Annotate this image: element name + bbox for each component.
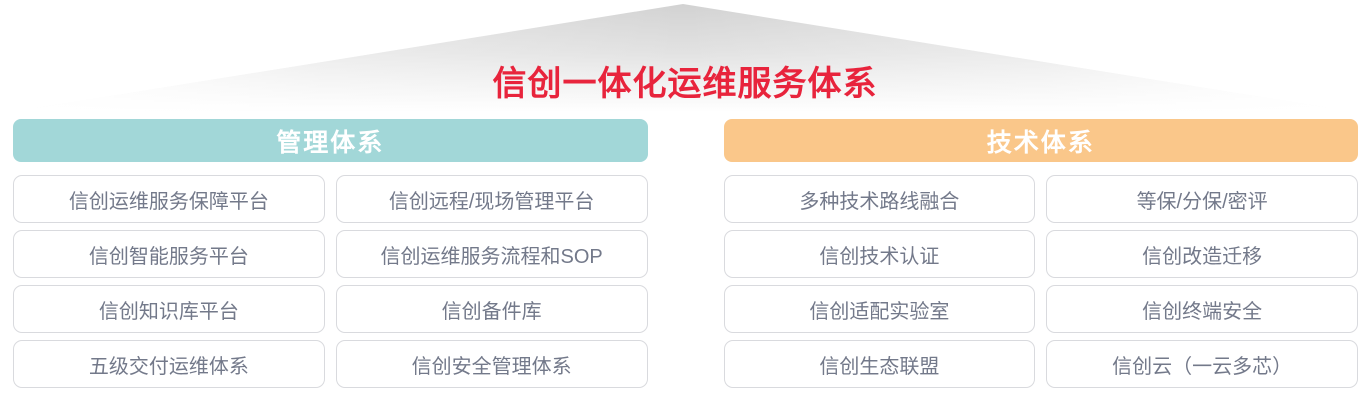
cell-grid-technology: 多种技术路线融合 等保/分保/密评 信创技术认证 信创改造迁移 信创适配实验室 … (724, 175, 1359, 388)
cell-item[interactable]: 信创终端安全 (1046, 285, 1358, 333)
cell-item[interactable]: 信创技术认证 (724, 230, 1036, 278)
cell-item[interactable]: 信创知识库平台 (13, 285, 325, 333)
cell-item[interactable]: 信创云（一云多芯） (1046, 340, 1358, 388)
cell-item[interactable]: 信创智能服务平台 (13, 230, 325, 278)
page-title: 信创一体化运维服务体系 (0, 56, 1370, 105)
cell-item[interactable]: 信创生态联盟 (724, 340, 1036, 388)
panel-header-management: 管理体系 (13, 119, 648, 162)
panels-container: 管理体系 信创运维服务保障平台 信创远程/现场管理平台 信创智能服务平台 信创运… (13, 119, 1358, 388)
cell-item[interactable]: 信创运维服务保障平台 (13, 175, 325, 223)
panel-management: 管理体系 信创运维服务保障平台 信创远程/现场管理平台 信创智能服务平台 信创运… (13, 119, 648, 388)
cell-item[interactable]: 信创备件库 (336, 285, 648, 333)
cell-item[interactable]: 五级交付运维体系 (13, 340, 325, 388)
infographic-root: 信创一体化运维服务体系 管理体系 信创运维服务保障平台 信创远程/现场管理平台 … (0, 0, 1370, 418)
cell-item[interactable]: 信创运维服务流程和SOP (336, 230, 648, 278)
cell-item[interactable]: 信创适配实验室 (724, 285, 1036, 333)
cell-item[interactable]: 信创安全管理体系 (336, 340, 648, 388)
cell-item[interactable]: 多种技术路线融合 (724, 175, 1036, 223)
panel-header-technology: 技术体系 (724, 119, 1359, 162)
cell-item[interactable]: 等保/分保/密评 (1046, 175, 1358, 223)
cell-grid-management: 信创运维服务保障平台 信创远程/现场管理平台 信创智能服务平台 信创运维服务流程… (13, 175, 648, 388)
cell-item[interactable]: 信创改造迁移 (1046, 230, 1358, 278)
cell-item[interactable]: 信创远程/现场管理平台 (336, 175, 648, 223)
panel-technology: 技术体系 多种技术路线融合 等保/分保/密评 信创技术认证 信创改造迁移 信创适… (724, 119, 1359, 388)
